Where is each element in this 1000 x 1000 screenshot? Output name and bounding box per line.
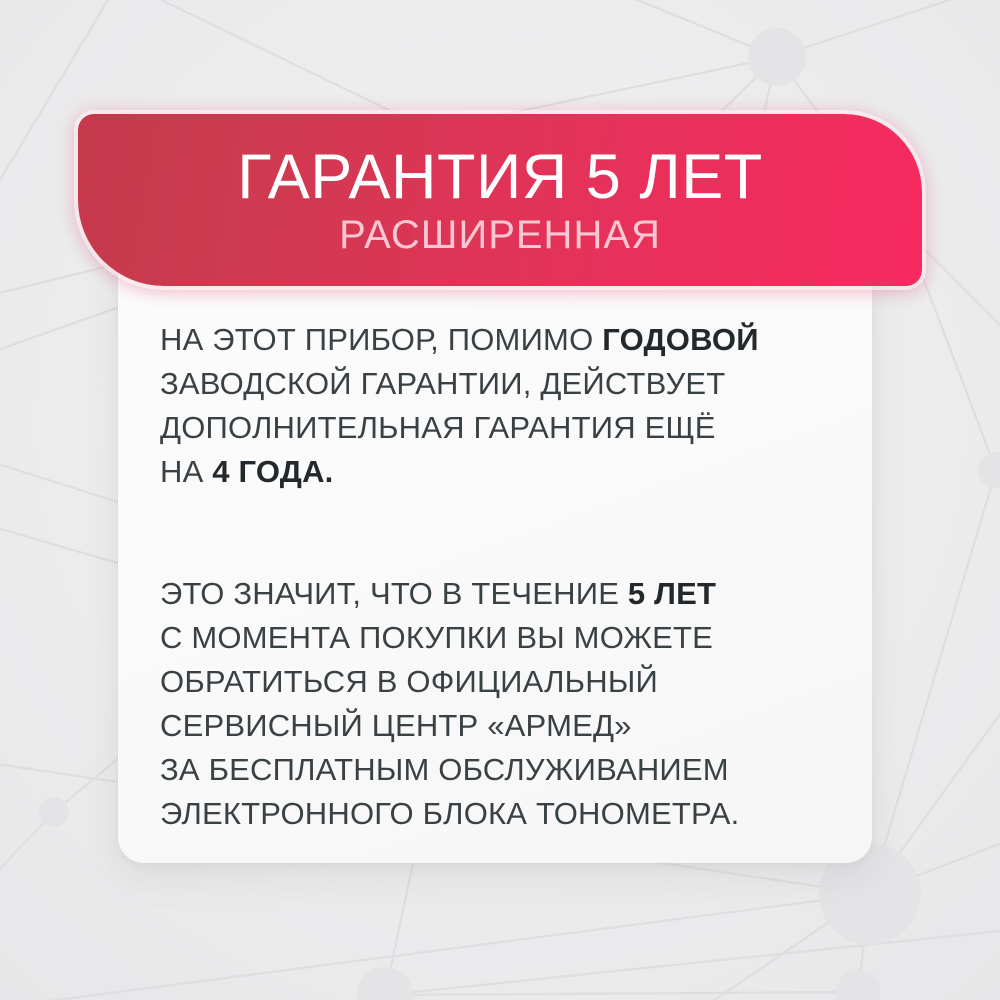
text-line: ЭЛЕКТРОННОГО БЛОКА ТОНОМЕТРА.: [160, 792, 860, 836]
line-normal: ЭТО ЗНАЧИТ, ЧТО В ТЕЧЕНИЕ: [160, 576, 628, 611]
line-normal: ЭЛЕКТРОННОГО БЛОКА ТОНОМЕТРА.: [160, 796, 739, 831]
banner-subtitle: РАСШИРЕННАЯ: [339, 215, 661, 255]
banner-title: ГАРАНТИЯ 5 ЛЕТ: [237, 146, 762, 209]
body-copy: НА ЭТОТ ПРИБОР, ПОМИМО ГОДОВОЙ ЗАВОДСКОЙ…: [160, 318, 860, 836]
text-line: ЗАВОДСКОЙ ГАРАНТИИ, ДЕЙСТВУЕТ: [160, 362, 860, 406]
line-bold: ГОДОВОЙ: [602, 322, 758, 357]
text-line: ЗА БЕСПЛАТНЫМ ОБСЛУЖИВАНИЕМ: [160, 748, 860, 792]
line-normal: ОБРАТИТЬСЯ В ОФИЦИАЛЬНЫЙ: [160, 664, 658, 699]
network-node: [978, 452, 1000, 488]
network-node: [748, 28, 806, 86]
line-normal: С МОМЕНТА ПОКУПКИ ВЫ МОЖЕТЕ: [160, 620, 713, 655]
text-line: ЭТО ЗНАЧИТ, ЧТО В ТЕЧЕНИЕ 5 ЛЕТ: [160, 572, 860, 616]
text-line: НА ЭТОТ ПРИБОР, ПОМИМО ГОДОВОЙ: [160, 318, 860, 362]
warranty-poster: ГАРАНТИЯ 5 ЛЕТ РАСШИРЕННАЯ НА ЭТОТ ПРИБО…: [0, 0, 1000, 1000]
line-bold: 5 ЛЕТ: [628, 576, 716, 611]
network-node: [39, 797, 69, 827]
text-line: НА 4 ГОДА.: [160, 450, 860, 494]
network-node: [357, 967, 413, 1000]
line-normal: ЗА БЕСПЛАТНЫМ ОБСЛУЖИВАНИЕМ: [160, 752, 729, 787]
line-normal: ДОПОЛНИТЕЛЬНАЯ ГАРАНТИЯ ЕЩЁ: [160, 410, 716, 445]
network-node: [836, 970, 880, 1000]
paragraph-service-terms: ЭТО ЗНАЧИТ, ЧТО В ТЕЧЕНИЕ 5 ЛЕТ С МОМЕНТ…: [160, 572, 860, 836]
line-normal: НА ЭТОТ ПРИБОР, ПОМИМО: [160, 322, 602, 357]
text-line: ДОПОЛНИТЕЛЬНАЯ ГАРАНТИЯ ЕЩЁ: [160, 406, 860, 450]
line-bold: 4 ГОДА.: [212, 454, 333, 489]
text-line: ОБРАТИТЬСЯ В ОФИЦИАЛЬНЫЙ: [160, 660, 860, 704]
text-line: СЕРВИСНЫЙ ЦЕНТР «АРМЕД»: [160, 704, 860, 748]
line-normal: СЕРВИСНЫЙ ЦЕНТР «АРМЕД»: [160, 708, 632, 743]
line-normal: НА: [160, 454, 212, 489]
line-normal: ЗАВОДСКОЙ ГАРАНТИИ, ДЕЙСТВУЕТ: [160, 366, 725, 401]
text-line: С МОМЕНТА ПОКУПКИ ВЫ МОЖЕТЕ: [160, 616, 860, 660]
warranty-banner: ГАРАНТИЯ 5 ЛЕТ РАСШИРЕННАЯ: [78, 114, 922, 286]
paragraph-warranty-terms: НА ЭТОТ ПРИБОР, ПОМИМО ГОДОВОЙ ЗАВОДСКОЙ…: [160, 318, 860, 494]
